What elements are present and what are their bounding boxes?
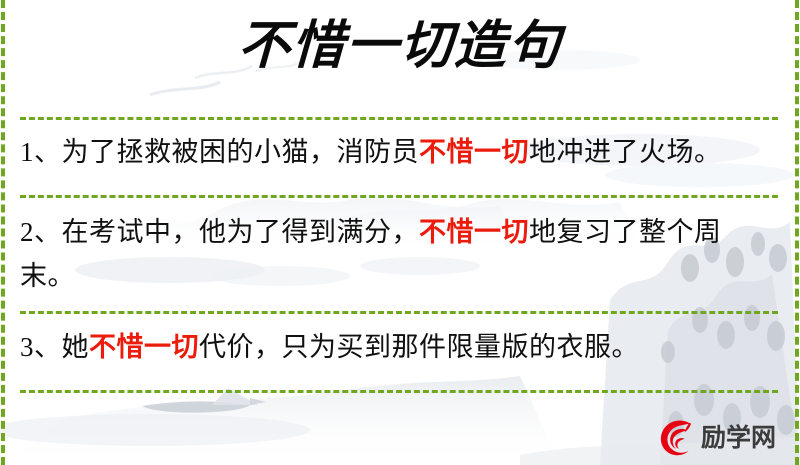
site-watermark-logo: 励学网 [655, 418, 776, 458]
sentence-1-text-before: 为了拯救被困的小猫，消防员 [62, 137, 420, 167]
example-sentence-3: 3、她不惜一切代价，只为买到那件限量版的衣服。 [20, 325, 772, 369]
separator-1 [20, 117, 778, 120]
separator-2 [20, 195, 778, 198]
example-sentence-2: 2、在考试中，他为了得到满分，不惜一切地复习了整个周末。 [20, 210, 750, 298]
sentence-1-number: 1、 [20, 137, 62, 167]
sentence-2-highlight: 不惜一切 [419, 217, 529, 247]
sentence-2-text-before: 在考试中，他为了得到满分， [62, 217, 420, 247]
sentence-1-text-after: 地冲进了火场。 [529, 137, 722, 167]
sentence-3-text-before: 她 [62, 332, 90, 362]
separator-3 [20, 311, 778, 314]
sentence-2-number: 2、 [20, 217, 62, 247]
flame-swoosh-icon [655, 418, 695, 458]
sentence-3-text-after: 代价，只为买到那件限量版的衣服。 [199, 332, 639, 362]
sentence-3-number: 3、 [20, 332, 62, 362]
example-sentence-1: 1、为了拯救被困的小猫，消防员不惜一切地冲进了火场。 [20, 130, 772, 174]
sentence-1-highlight: 不惜一切 [419, 137, 529, 167]
worksheet-page: 不惜一切造句 1、为了拯救被困的小猫，消防员不惜一切地冲进了火场。 2、在考试中… [0, 0, 800, 465]
sentence-3-highlight: 不惜一切 [89, 332, 199, 362]
watermark-brand-text: 励学网 [701, 426, 776, 451]
separator-4 [20, 390, 778, 393]
page-title: 不惜一切造句 [0, 18, 800, 75]
